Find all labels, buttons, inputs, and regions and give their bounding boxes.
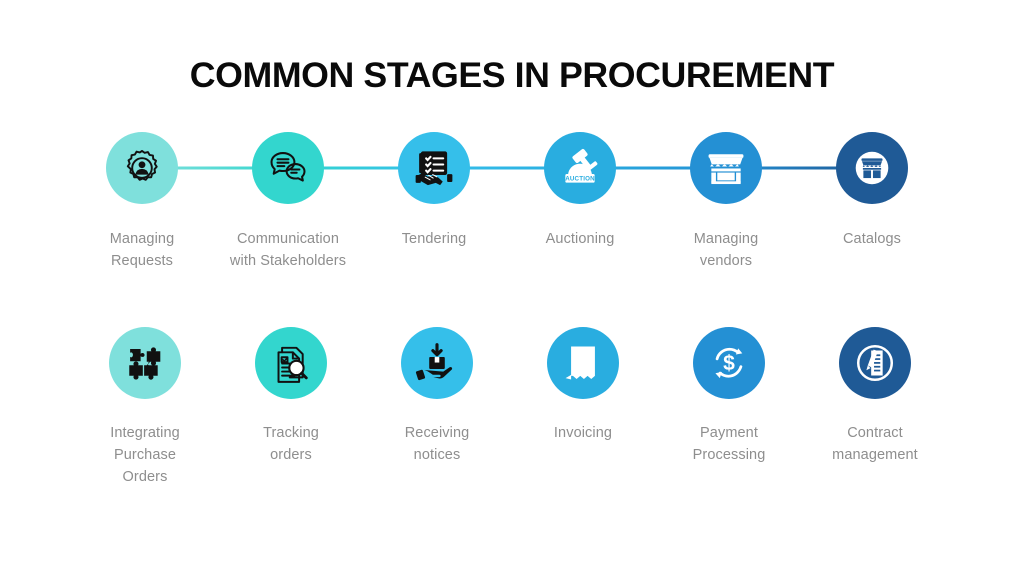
stage-circle[interactable] bbox=[106, 132, 178, 204]
storefront-circle-icon bbox=[849, 145, 895, 191]
puzzle-pieces-icon bbox=[124, 342, 166, 384]
gavel-auction-icon: AUCTION bbox=[558, 146, 602, 190]
stage-label: Tracking orders bbox=[211, 422, 371, 466]
stage-circle[interactable] bbox=[252, 132, 324, 204]
document-magnifier-icon bbox=[270, 342, 313, 385]
stage-item[interactable]: Contract management bbox=[802, 327, 948, 466]
stage-item[interactable]: $ Payment Processing bbox=[656, 327, 802, 466]
speech-bubbles-icon bbox=[266, 146, 310, 190]
stage-circle[interactable] bbox=[401, 327, 473, 399]
stage-label: Payment Processing bbox=[649, 422, 809, 466]
stage-item[interactable]: Managing vendors bbox=[653, 132, 799, 272]
stage-item[interactable]: Communication with Stakeholders bbox=[215, 132, 361, 272]
svg-text:$: $ bbox=[575, 348, 582, 362]
stage-circle[interactable]: $ bbox=[693, 327, 765, 399]
stage-item[interactable]: Managing Requests bbox=[69, 132, 215, 272]
stage-item[interactable]: Tracking orders bbox=[218, 327, 364, 466]
stage-label: Contract management bbox=[795, 422, 955, 466]
stage-circle[interactable] bbox=[836, 132, 908, 204]
stage-item[interactable]: Integrating Purchase Orders bbox=[72, 327, 218, 488]
stage-label: Catalogs bbox=[792, 228, 952, 250]
stage-circle[interactable]: AUCTION bbox=[544, 132, 616, 204]
stage-label: Tendering bbox=[354, 228, 514, 250]
invoice-dollar-icon: $ bbox=[561, 341, 605, 385]
page-title: COMMON STAGES IN PROCUREMENT bbox=[0, 56, 1024, 96]
stage-label: Communication with Stakeholders bbox=[208, 228, 368, 272]
checklist-handshake-icon bbox=[413, 147, 455, 189]
stage-circle[interactable] bbox=[255, 327, 327, 399]
stage-label: Receiving notices bbox=[357, 422, 517, 466]
stage-item[interactable]: AUCTION Auctioning bbox=[507, 132, 653, 250]
stage-circle[interactable] bbox=[109, 327, 181, 399]
svg-text:AUCTION: AUCTION bbox=[565, 175, 595, 182]
contract-pen-circle-icon bbox=[852, 340, 898, 386]
svg-text:$: $ bbox=[723, 352, 735, 375]
stage-circle[interactable]: $ bbox=[547, 327, 619, 399]
stage-label: Invoicing bbox=[503, 422, 663, 444]
stage-item[interactable]: Catalogs bbox=[799, 132, 945, 250]
stage-circle[interactable] bbox=[690, 132, 762, 204]
stage-row-bottom: Integrating Purchase Orders Tracking ord… bbox=[0, 327, 1024, 537]
infographic-root: COMMON STAGES IN PROCUREMENT Managing Re… bbox=[0, 0, 1024, 576]
stage-label: Integrating Purchase Orders bbox=[65, 422, 225, 488]
dollar-refresh-icon: $ bbox=[707, 341, 751, 385]
stage-item[interactable]: $ Invoicing bbox=[510, 327, 656, 444]
stage-row-top: Managing Requests Communication with Sta… bbox=[0, 132, 1024, 342]
stage-item[interactable]: Tendering bbox=[361, 132, 507, 250]
stage-label: Managing Requests bbox=[62, 228, 222, 272]
gear-person-icon bbox=[121, 147, 163, 189]
stage-item[interactable]: Receiving notices bbox=[364, 327, 510, 466]
hand-package-icon bbox=[415, 341, 459, 385]
stage-circle[interactable] bbox=[398, 132, 470, 204]
market-stall-icon bbox=[704, 146, 748, 190]
stage-label: Auctioning bbox=[500, 228, 660, 250]
stage-label: Managing vendors bbox=[646, 228, 806, 272]
stage-circle[interactable] bbox=[839, 327, 911, 399]
